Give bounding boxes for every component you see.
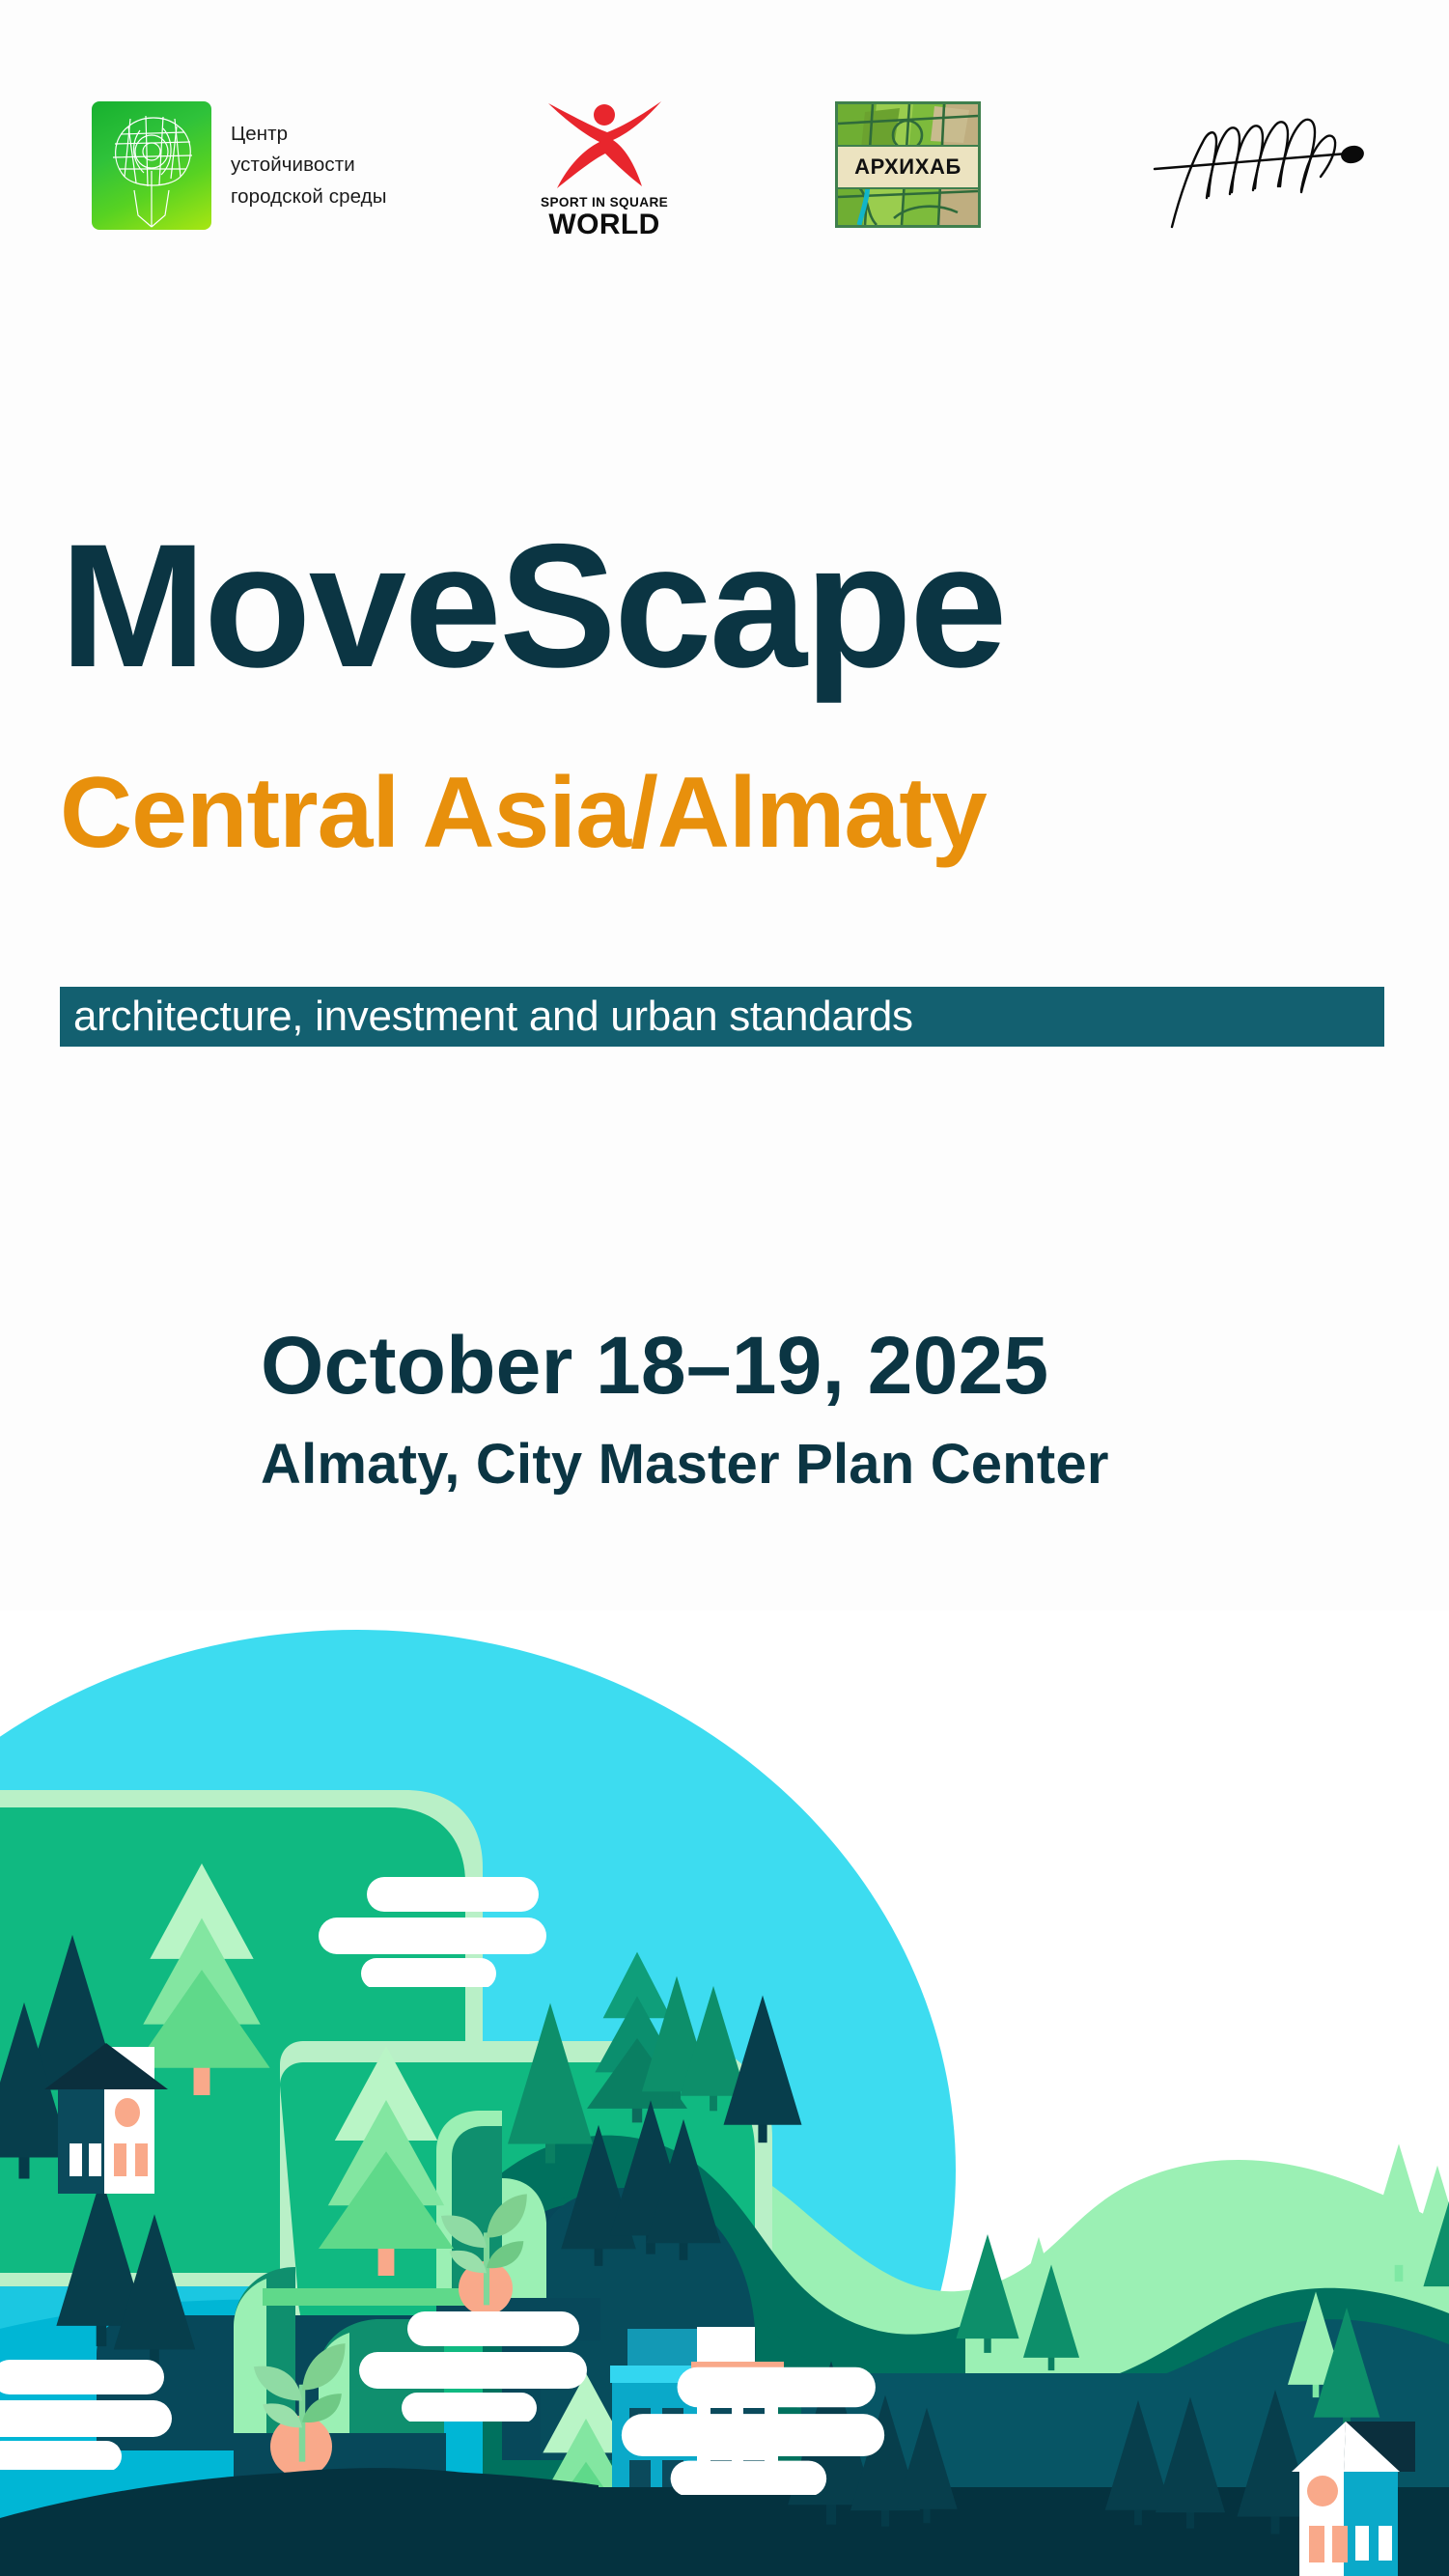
tagline-bar: architecture, investment and urban stand… — [60, 987, 1384, 1047]
page-subtitle: Central Asia/Almaty — [60, 763, 987, 863]
sponsor-logo-strip: Центр устойчивости городской среды SPORT… — [0, 92, 1449, 246]
logo-sport-in-square-world[interactable]: SPORT IN SQUARE WORLD — [541, 99, 668, 240]
city-plan-icon: АРХИХАБ — [835, 101, 981, 228]
signature-icon — [1149, 103, 1371, 229]
logo-text-line-3: городской среды — [231, 182, 387, 212]
event-date: October 18–19, 2025 — [261, 1319, 1048, 1413]
cloud-foreground-right — [608, 2360, 898, 2495]
logo-arkhihab[interactable]: АРХИХАБ — [835, 101, 981, 228]
tagline-text: architecture, investment and urban stand… — [73, 993, 913, 1041]
logo-arkhihab-text: АРХИХАБ — [854, 154, 961, 180]
cloud-foreground-left — [348, 2306, 599, 2422]
logo-signature[interactable] — [1149, 103, 1371, 229]
logo-arkhihab-plate: АРХИХАБ — [838, 145, 978, 189]
event-venue: Almaty, City Master Plan Center — [261, 1432, 1109, 1497]
logo-center-urban-sustainability[interactable]: Центр устойчивости городской среды — [92, 101, 387, 230]
logo-text-line-2: устойчивости — [231, 150, 387, 181]
logo-text-line-1: Центр — [231, 119, 387, 150]
running-figure-icon — [542, 99, 667, 192]
logo-sisw-text-small: SPORT IN SQUARE — [541, 195, 668, 210]
tree-map-icon — [92, 101, 211, 230]
logo-sisw-text-big: WORLD — [548, 210, 659, 240]
logo-center-urban-sustainability-text: Центр устойчивости городской среды — [231, 119, 387, 212]
page-title: MoveScape — [60, 518, 1005, 693]
